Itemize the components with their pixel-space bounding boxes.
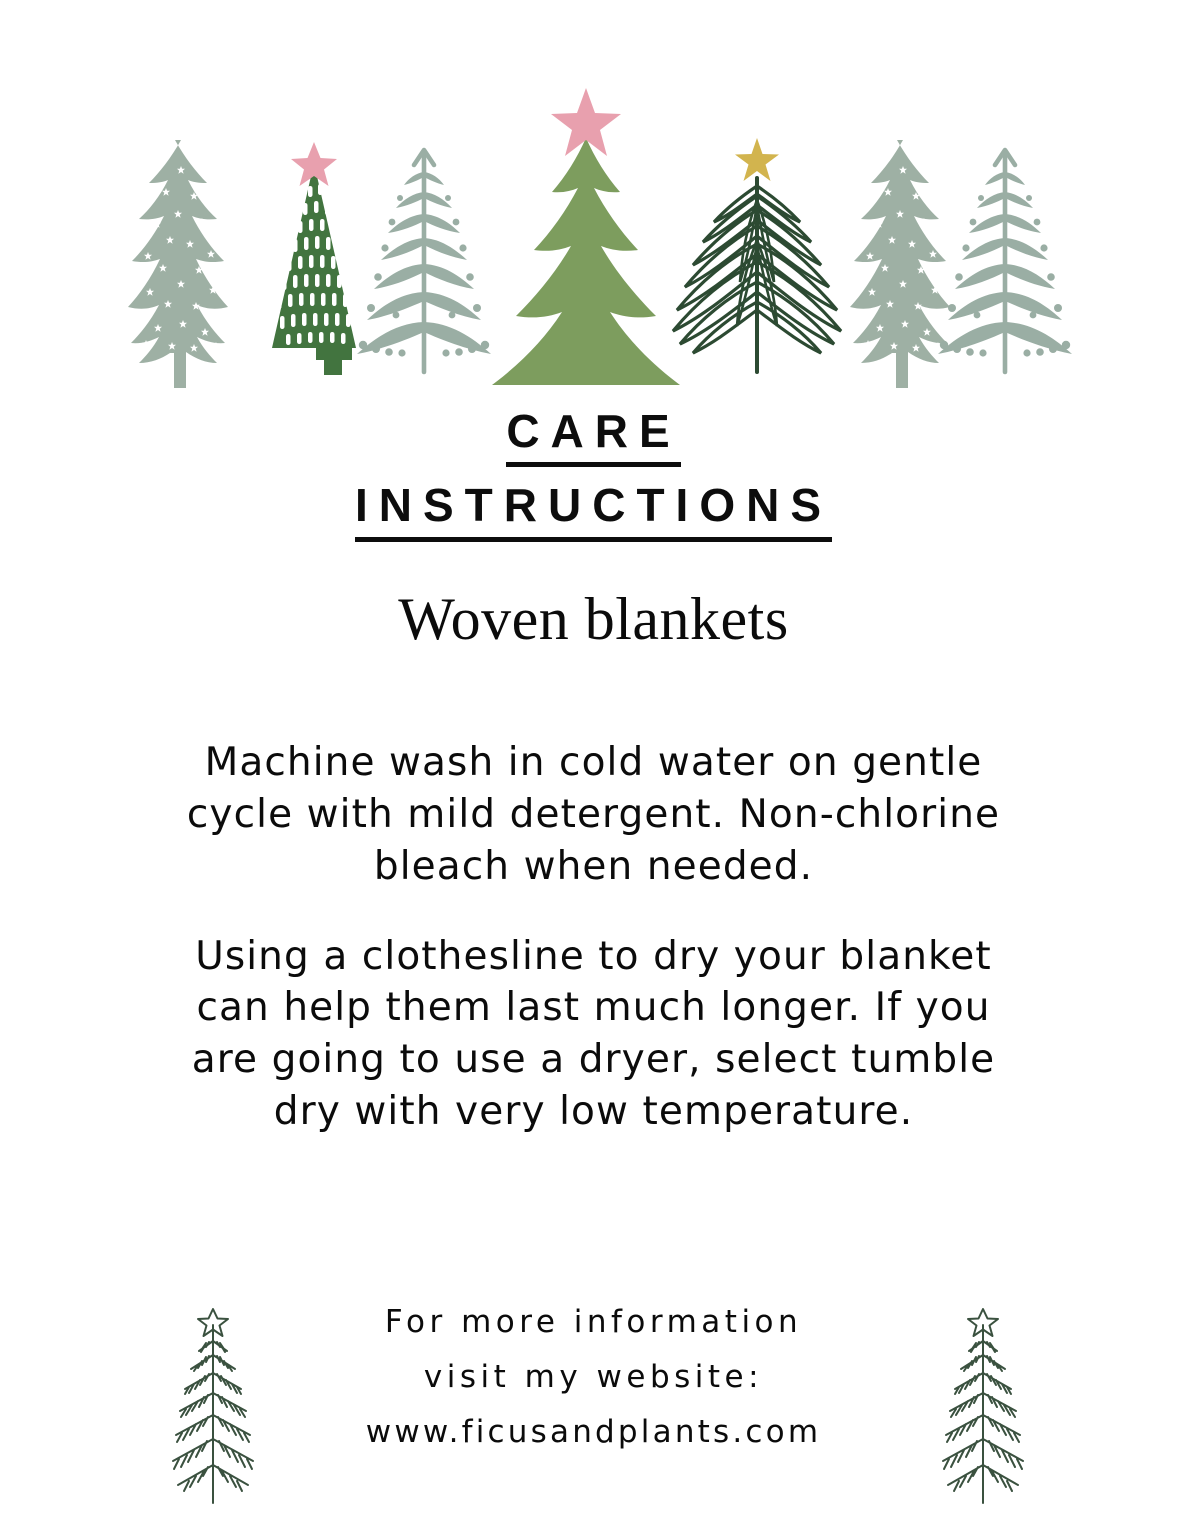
instruction-paragraph-washing: Machine wash in cold water on gentle cyc… (174, 737, 1014, 893)
tree-sage-outline-1 (357, 150, 491, 372)
tree-speckled-sage-1 (128, 140, 228, 388)
tree-classic-green (492, 88, 680, 385)
care-instructions-body: Machine wash in cold water on gentle cyc… (174, 737, 1014, 1138)
product-subtitle: Woven blankets (0, 585, 1187, 654)
footer-tree-left (158, 1285, 268, 1515)
tree-speckled-sage-2 (850, 140, 950, 388)
title-line-instructions: INSTRUCTIONS (0, 478, 1187, 541)
title-line-care: CARE (0, 404, 1187, 467)
page-title: CARE INSTRUCTIONS (0, 404, 1187, 542)
tree-sketchy-dark (673, 138, 841, 372)
top-tree-decoration (0, 0, 1187, 400)
gold-star-icon (735, 138, 779, 181)
tree-dashed-green (272, 142, 358, 375)
footer-tree-right (928, 1285, 1038, 1515)
tree-sage-outline-2 (938, 150, 1072, 372)
instruction-paragraph-drying: Using a clothesline to dry your blanket … (174, 931, 1014, 1138)
